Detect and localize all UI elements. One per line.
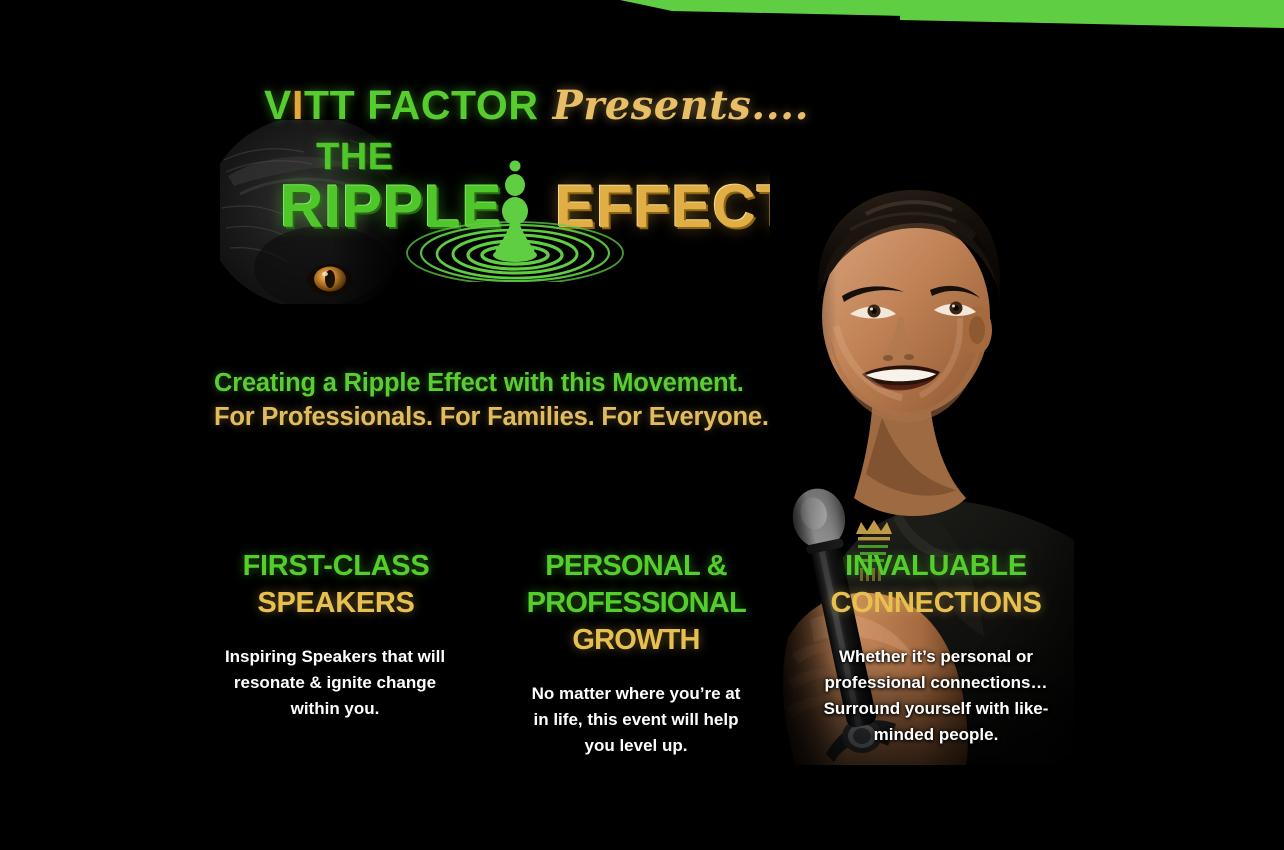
feature-1-body: Inspiring Speakers that will resonate & … <box>222 644 448 722</box>
feature-column-first-class-speakers: FIRST-CLASS SPEAKERS Inspiring Speakers … <box>186 548 486 759</box>
promo-poster: VITT FACTORPresents.... THE RIPPLE EFFEC… <box>0 0 1284 850</box>
brand-letter-v: V <box>264 82 292 128</box>
decorative-green-slant-band <box>0 0 1284 34</box>
feature-1-title-line-1: FIRST-CLASS <box>186 548 486 585</box>
feature-2-title-line-2: PROFESSIONAL GROWTH <box>486 585 786 659</box>
features-row: FIRST-CLASS SPEAKERS Inspiring Speakers … <box>186 548 1086 759</box>
feature-3-body: Whether it’s personal or professional co… <box>800 644 1072 748</box>
feature-3-title-line-2: CONNECTIONS <box>786 585 1086 622</box>
feature-2-title-growth: GROWTH <box>572 624 699 656</box>
tagline-block: Creating a Ripple Effect with this Movem… <box>214 366 834 434</box>
feature-column-personal-professional-growth: PERSONAL & PROFESSIONAL GROWTH No matter… <box>486 548 786 759</box>
feature-2-title-line-1: PERSONAL & <box>486 548 786 585</box>
brand-wordmark: VITT FACTORPresents.... <box>264 82 809 129</box>
tagline-line-1: Creating a Ripple Effect with this Movem… <box>214 366 834 400</box>
feature-1-title-line-2: SPEAKERS <box>186 585 486 622</box>
feature-2-body: No matter where you’re at in life, this … <box>531 681 741 759</box>
presents-script-text: Presents.... <box>553 82 809 129</box>
tagline-line-2: For Professionals. For Families. For Eve… <box>214 400 834 434</box>
feature-column-invaluable-connections: INVALUABLE CONNECTIONS Whether it’s pers… <box>786 548 1086 759</box>
feature-2-title: PERSONAL & PROFESSIONAL GROWTH <box>486 548 786 659</box>
brand-rest: TT FACTOR <box>304 82 539 128</box>
feature-3-title-line-1: INVALUABLE <box>786 548 1086 585</box>
brand-letter-i: I <box>292 82 304 128</box>
feature-3-title: INVALUABLE CONNECTIONS <box>786 548 1086 622</box>
feature-2-title-professional: PROFESSIONAL <box>527 587 746 619</box>
brand-logo-panel: VITT FACTORPresents.... THE RIPPLE EFFEC… <box>220 62 772 304</box>
feature-1-title: FIRST-CLASS SPEAKERS <box>186 548 486 622</box>
water-droplet-ripple-icon <box>400 152 630 282</box>
